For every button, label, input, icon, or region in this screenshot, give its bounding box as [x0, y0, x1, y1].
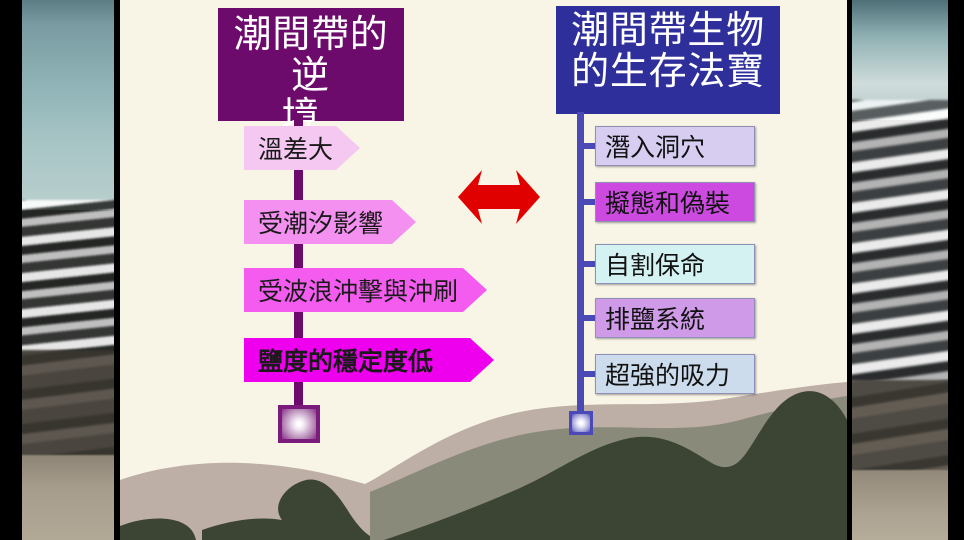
right-connector-stub-4 — [577, 371, 595, 377]
right-item-box-4[interactable]: 超強的吸力 — [595, 354, 755, 394]
coastal-photo-right — [852, 0, 948, 540]
surf-layer — [852, 100, 948, 400]
hill-silhouettes — [120, 380, 847, 540]
right-connector-stub-1 — [577, 199, 595, 205]
right-item-label: 潛入洞穴 — [605, 128, 705, 164]
left-item-chevron-2[interactable]: 受波浪沖擊與沖刷 — [244, 268, 487, 312]
right-item-box-1[interactable]: 擬態和偽裝 — [595, 182, 755, 222]
sea-layer — [22, 0, 114, 210]
left-item-chevron-3[interactable]: 鹽度的穩定度低 — [244, 338, 494, 382]
right-column-title: 潮間帶生物的生存法寶 — [556, 6, 780, 114]
right-item-label: 擬態和偽裝 — [605, 184, 730, 220]
right-item-label: 排鹽系統 — [605, 300, 705, 336]
double-headed-horizontal-arrow-icon — [456, 168, 542, 226]
left-title-line1: 潮間帶的 — [233, 12, 388, 56]
right-item-box-3[interactable]: 排鹽系統 — [595, 298, 755, 338]
left-item-label: 受波浪沖擊與沖刷 — [258, 272, 458, 308]
right-item-box-2[interactable]: 自割保命 — [595, 244, 755, 284]
right-item-label: 超強的吸力 — [605, 356, 730, 392]
left-item-chevron-1[interactable]: 受潮汐影響 — [244, 200, 416, 244]
coastal-photo-left — [22, 0, 114, 540]
right-end-marker — [569, 411, 593, 435]
left-item-chevron-0[interactable]: 溫差大 — [244, 126, 360, 170]
sand-layer — [22, 455, 114, 540]
slide-panel: 潮間帶的逆 境 溫差大 受潮汐影響 受波浪沖擊與沖刷 鹽度的穩定度低 潮間帶生物… — [120, 0, 847, 540]
right-connector-stub-2 — [577, 261, 595, 267]
left-item-label: 受潮汐影響 — [258, 204, 383, 240]
left-column-title: 潮間帶的逆 境 — [218, 8, 404, 121]
right-connector-stub-3 — [577, 315, 595, 321]
right-connector-stub-0 — [577, 143, 595, 149]
right-item-box-0[interactable]: 潛入洞穴 — [595, 126, 755, 166]
right-item-label: 自割保命 — [605, 246, 705, 282]
sand-layer — [852, 470, 948, 540]
right-title-line1: 潮間帶生物 — [571, 8, 765, 52]
left-end-marker — [278, 405, 320, 443]
left-item-label: 溫差大 — [258, 130, 333, 166]
left-item-label: 鹽度的穩定度低 — [258, 342, 433, 378]
right-title-line2: 的生存法寶 — [571, 49, 765, 93]
slide-stage: 潮間帶的逆 境 溫差大 受潮汐影響 受波浪沖擊與沖刷 鹽度的穩定度低 潮間帶生物… — [0, 0, 964, 540]
